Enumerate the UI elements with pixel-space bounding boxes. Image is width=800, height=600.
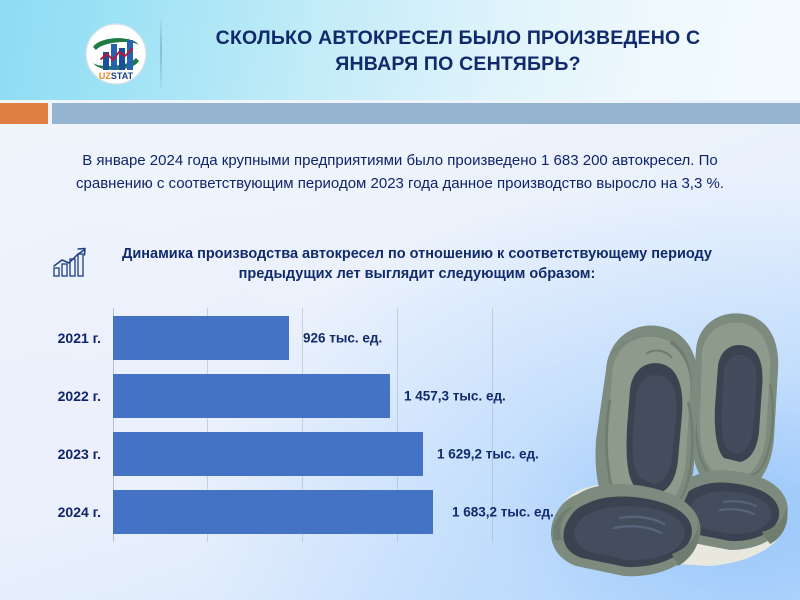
chart-category-axis: 2021 г. 2022 г. 2023 г. 2024 г.	[0, 308, 101, 542]
chart-bar-value-label: 1 629,2 тыс. ед.	[437, 447, 539, 462]
header-band: UZSTAT СКОЛЬКО АВТОКРЕСЕЛ БЫЛО ПРОИЗВЕДЕ…	[0, 0, 800, 100]
intro-paragraph: В январе 2024 года крупными предприятиям…	[62, 150, 738, 196]
car-seats-illustration	[548, 288, 800, 580]
bar-chart: 2021 г. 2022 г. 2023 г. 2024 г. 926 тыс.…	[0, 300, 600, 550]
chart-bar	[113, 374, 390, 418]
growth-chart-icon	[52, 246, 90, 278]
infographic-poster: UZSTAT СКОЛЬКО АВТОКРЕСЕЛ БЫЛО ПРОИЗВЕДЕ…	[0, 0, 800, 600]
growth-chart-icon-svg	[52, 246, 90, 278]
car-seat-front	[551, 325, 700, 576]
chart-category-label: 2021 г.	[58, 330, 101, 346]
car-seats-illustration-svg	[548, 288, 800, 580]
chart-bar-value-label: 1 457,3 тыс. ед.	[404, 389, 506, 404]
chart-bar-value-label: 1 683,2 тыс. ед.	[452, 505, 554, 520]
chart-bar-value-label: 926 тыс. ед.	[303, 331, 382, 346]
chart-bar	[113, 432, 423, 476]
uzstat-logo-svg: UZSTAT	[84, 22, 148, 86]
chart-bar	[113, 316, 289, 360]
page-title: СКОЛЬКО АВТОКРЕСЕЛ БЫЛО ПРОИЗВЕДЕНО С ЯН…	[178, 26, 738, 77]
chart-category-label: 2023 г.	[58, 446, 101, 462]
subtitle-block: Динамика производства автокресел по отно…	[52, 244, 742, 285]
accent-strip-orange	[0, 103, 48, 124]
chart-category-label: 2022 г.	[58, 388, 101, 404]
uzstat-logo: UZSTAT	[84, 22, 148, 86]
header-divider	[160, 18, 162, 88]
accent-strip-gray	[52, 103, 800, 124]
chart-bar	[113, 490, 433, 534]
svg-text:UZSTAT: UZSTAT	[99, 71, 134, 81]
chart-plot-area: 926 тыс. ед. 1 457,3 тыс. ед. 1 629,2 ты…	[113, 308, 493, 542]
subtitle-text: Динамика производства автокресел по отно…	[92, 244, 742, 285]
chart-category-label: 2024 г.	[58, 504, 101, 520]
